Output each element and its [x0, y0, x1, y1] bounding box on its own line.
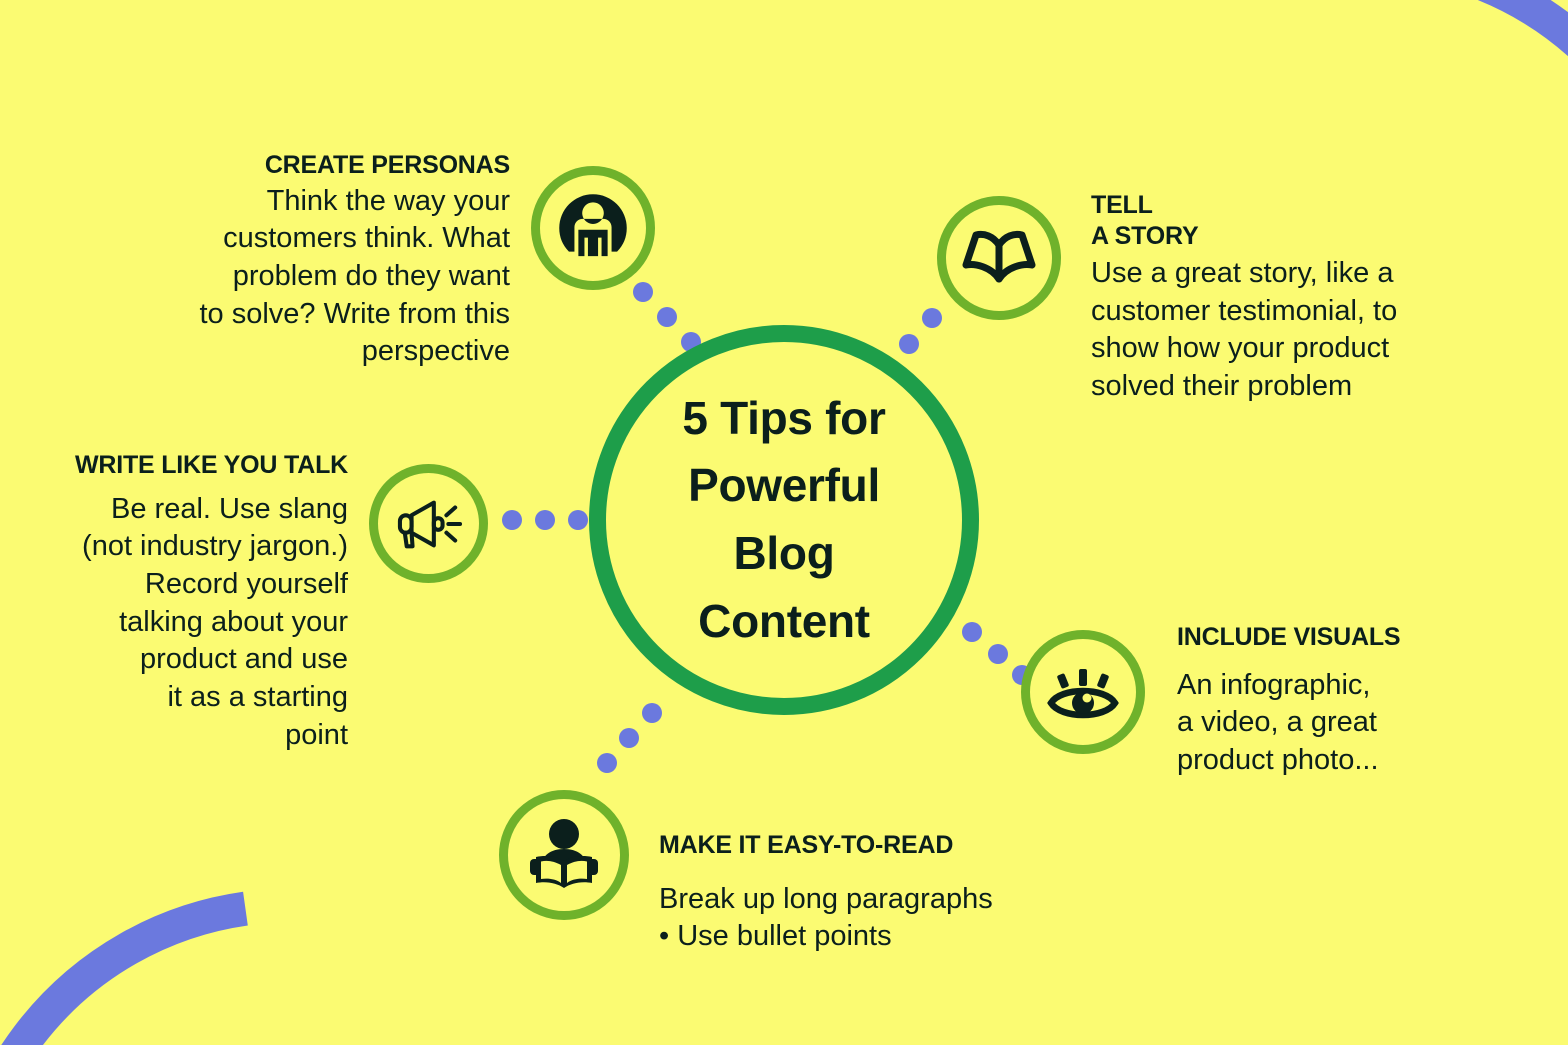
- eye-icon: [1044, 661, 1122, 723]
- page-title: 5 Tips for Powerful Blog Content: [606, 385, 962, 655]
- tip-create-personas: CREATE PERSONAS Think the way your custo…: [120, 150, 510, 371]
- bubble-make-it-easy-to-read[interactable]: [499, 790, 629, 920]
- tip-body: Use a great story, like a customer testi…: [1091, 255, 1441, 406]
- tip-heading: WRITE LIKE YOU TALK: [28, 450, 348, 481]
- tip-heading: CREATE PERSONAS: [120, 150, 510, 181]
- tip-include-visuals: INCLUDE VISUALS An infographic, a video,…: [1177, 622, 1477, 780]
- tip-body: An infographic, a video, a great product…: [1177, 667, 1477, 780]
- tip-tell-a-story: TELL A STORY Use a great story, like a c…: [1091, 190, 1441, 406]
- bubble-include-visuals[interactable]: [1021, 630, 1145, 754]
- bubble-write-like-you-talk[interactable]: [369, 464, 488, 583]
- megaphone-icon: [394, 493, 464, 555]
- tip-body: Think the way your customers think. What…: [120, 183, 510, 371]
- open-book-icon: [960, 222, 1038, 294]
- tip-make-it-easy-to-read: MAKE IT EASY-TO-READ Break up long parag…: [659, 830, 1079, 956]
- tip-heading: TELL A STORY: [1091, 190, 1441, 251]
- tip-body: Break up long paragraphs • Use bullet po…: [659, 881, 1079, 956]
- infographic-canvas: 5 Tips for Powerful Blog Content: [0, 0, 1568, 1045]
- tip-body: Be real. Use slang (not industry jargon.…: [28, 491, 348, 755]
- center-hub: 5 Tips for Powerful Blog Content: [589, 325, 979, 715]
- person-reading-icon: [522, 817, 606, 893]
- tip-heading: MAKE IT EASY-TO-READ: [659, 830, 1079, 861]
- tip-heading: INCLUDE VISUALS: [1177, 622, 1477, 653]
- bubble-tell-a-story[interactable]: [937, 196, 1061, 320]
- tip-write-like-you-talk: WRITE LIKE YOU TALK Be real. Use slang (…: [28, 450, 348, 754]
- bubble-create-personas[interactable]: [531, 166, 655, 290]
- blue-arc-bottom-left-icon: [0, 909, 291, 1045]
- persona-icon: [557, 192, 629, 264]
